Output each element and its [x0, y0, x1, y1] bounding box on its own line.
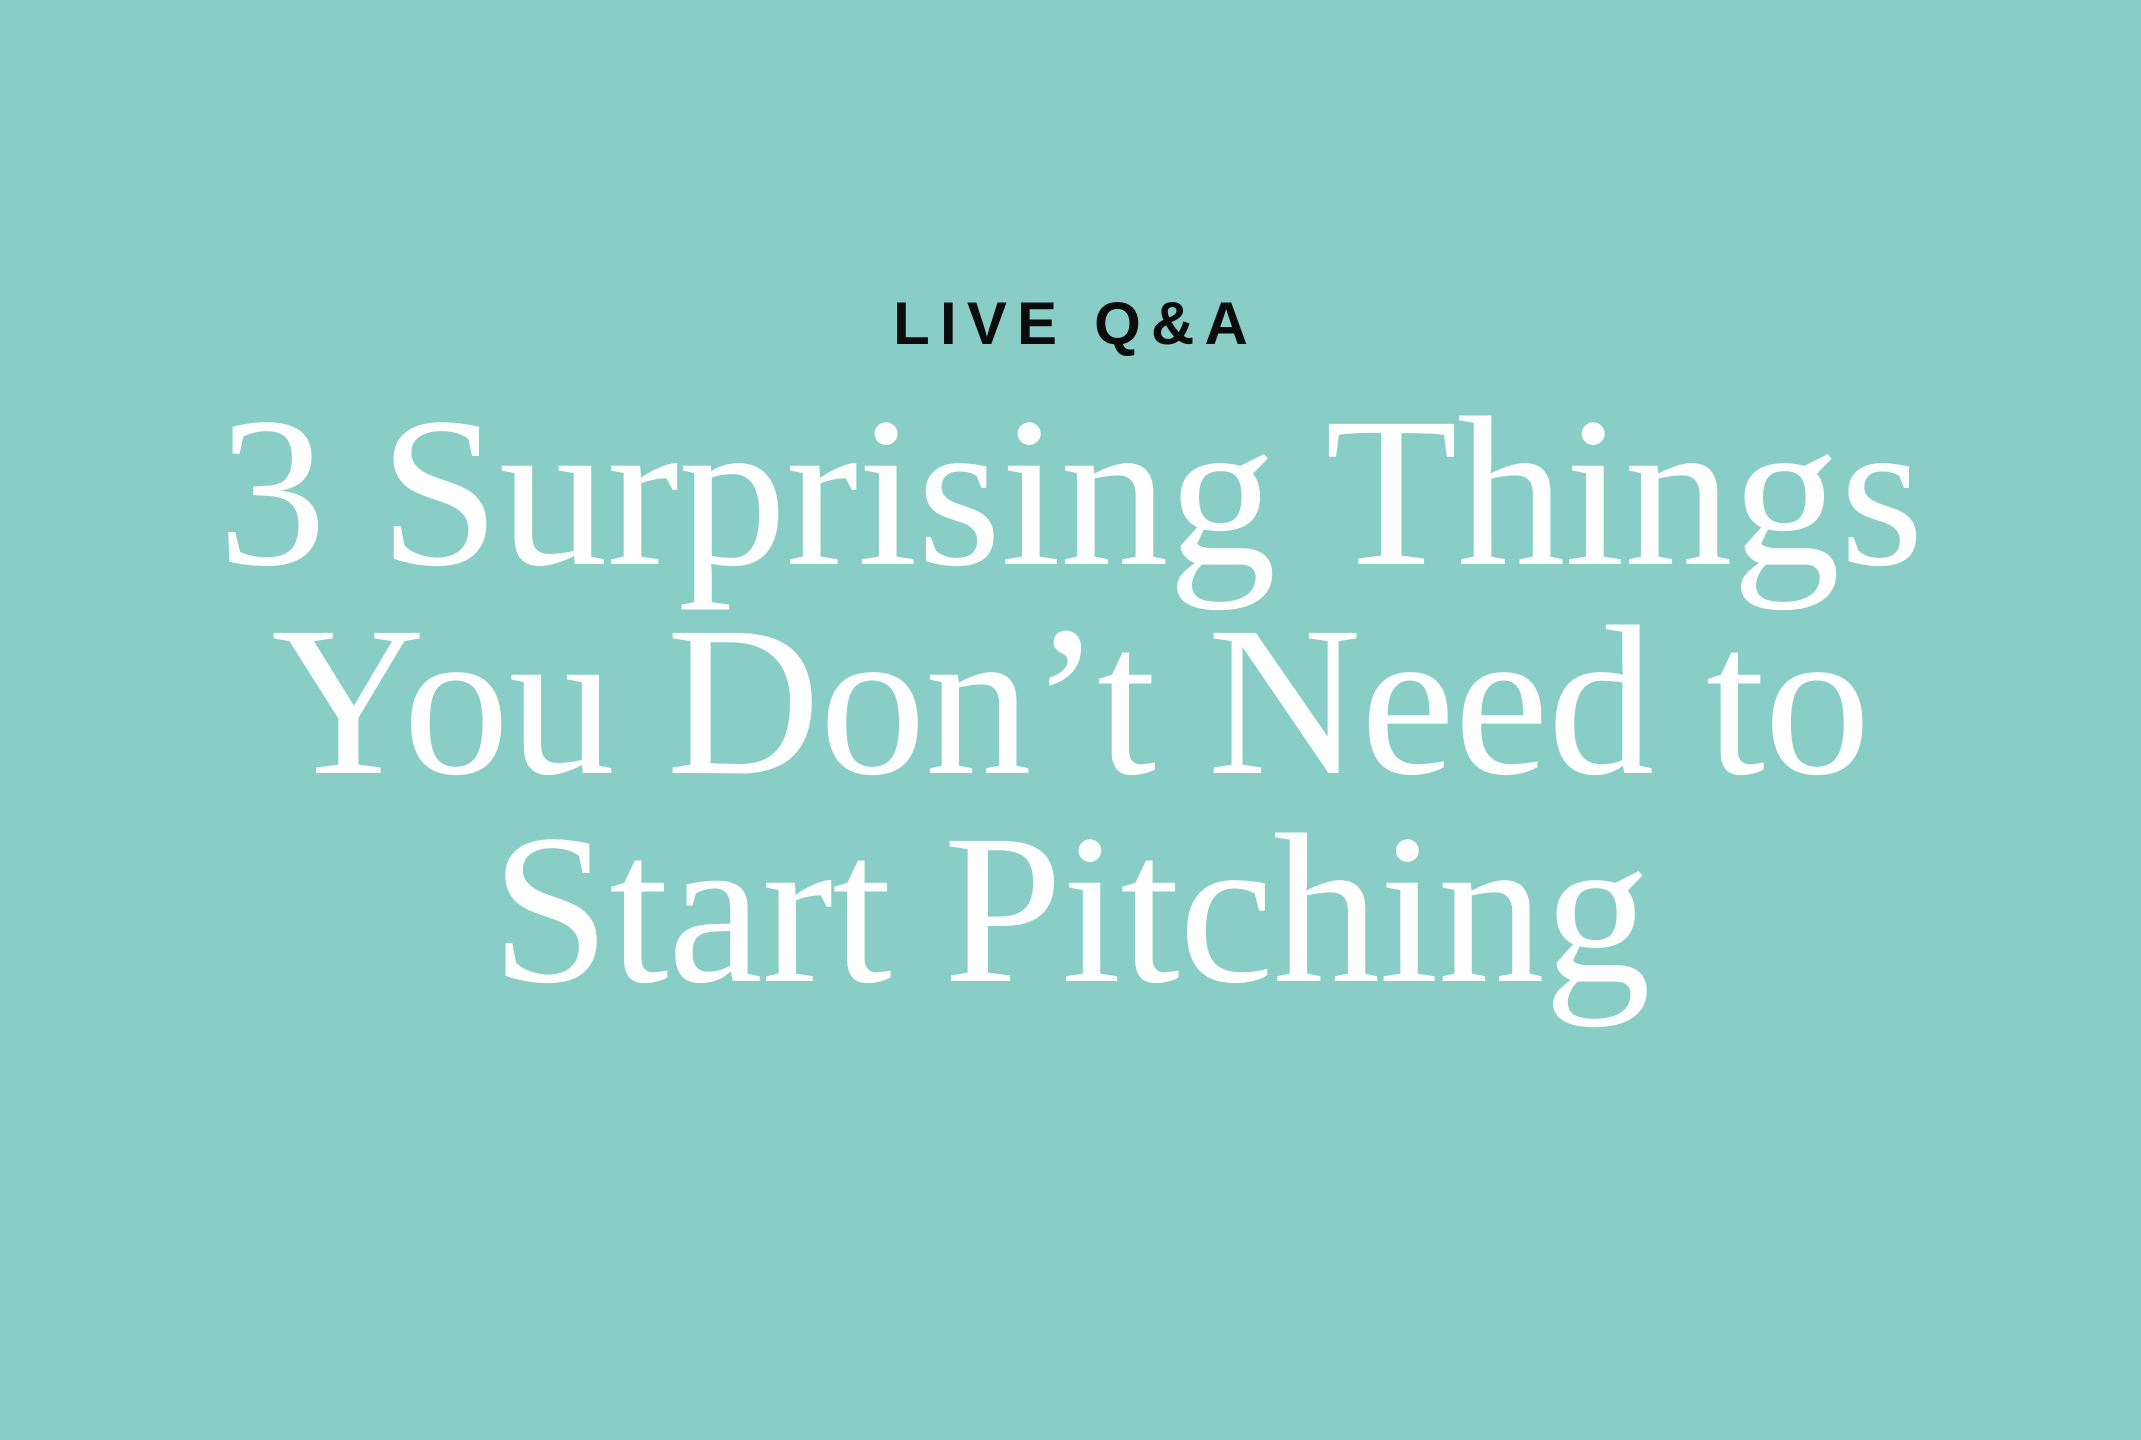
headline-line-3: Start Pitching [0, 806, 2141, 1015]
eyebrow-container: LIVE Q&A [0, 292, 2141, 355]
headline-line-1: 3 Surprising Things [0, 389, 2141, 598]
promo-slide: LIVE Q&A 3 Surprising Things You Don’t N… [0, 0, 2141, 1440]
eyebrow-label: LIVE Q&A [883, 292, 1258, 355]
page-title: 3 Surprising Things You Don’t Need to St… [0, 389, 2141, 1015]
headline-line-2: You Don’t Need to [5, 598, 2135, 807]
